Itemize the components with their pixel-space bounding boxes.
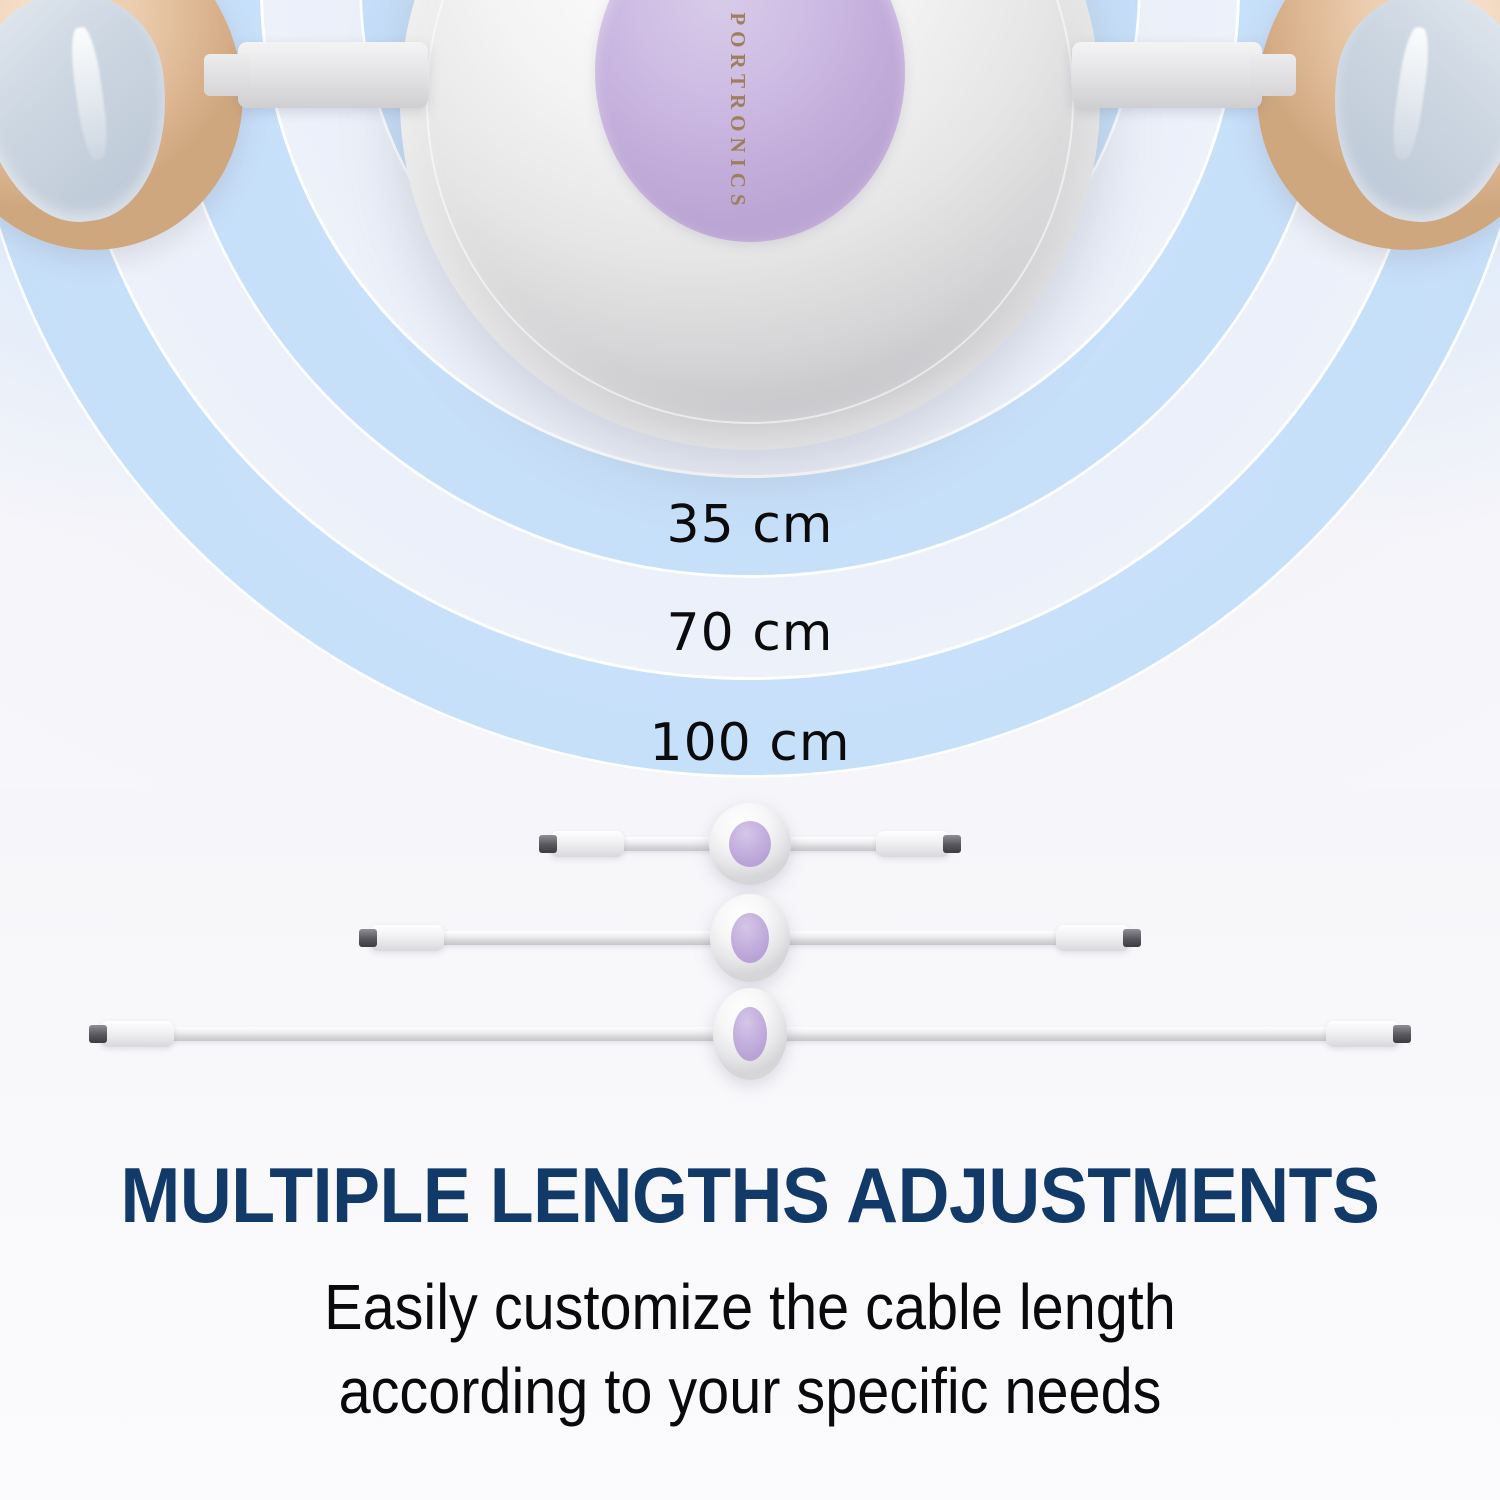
usb-c-connector-right: [876, 831, 950, 857]
brand-name: PORTRONICS: [725, 12, 750, 211]
usb-c-connector-left: [100, 1021, 174, 1047]
cable-specimen-35cm: [550, 796, 950, 892]
connector-metal-contact: [359, 929, 377, 947]
distance-label-70: 70 cm: [0, 603, 1500, 663]
cable-wire-right: [746, 931, 1086, 945]
product-feature-graphic: 35 cm 70 cm 100 cm ⊒ PORTRONICS: [0, 0, 1500, 1500]
cable-specimen-100cm: [100, 986, 1400, 1082]
cable-wire-left: [414, 931, 754, 945]
cable-hub-purple-disc: [731, 913, 769, 963]
distance-label-35: 35 cm: [0, 495, 1500, 555]
connector-metal-contact: [539, 835, 557, 853]
right-hand: [1228, 0, 1500, 260]
subtitle-line-2: according to your specific needs: [75, 1349, 1425, 1433]
headline: MULTIPLE LENGTHS ADJUSTMENTS: [60, 1150, 1440, 1241]
cable-hub-purple-disc: [729, 821, 771, 867]
connector-tip-left: [204, 54, 250, 96]
cable-hub: [709, 803, 791, 885]
cable-specimen-70cm: [370, 890, 1130, 986]
held-connector-left: [238, 42, 428, 108]
connector-metal-contact: [1393, 1025, 1411, 1043]
usb-c-connector-left: [370, 925, 444, 951]
connector-metal-contact: [943, 835, 961, 853]
held-connector-right: [1072, 42, 1262, 108]
distance-label-100: 100 cm: [0, 713, 1500, 773]
connector-metal-contact: [89, 1025, 107, 1043]
cable-hub: [713, 988, 787, 1080]
subtitle-line-1: Easily customize the cable length: [75, 1265, 1425, 1349]
subtitle: Easily customize the cable length accord…: [75, 1265, 1425, 1433]
cable-hub-purple-disc: [733, 1007, 767, 1061]
cable-hub: [710, 894, 790, 982]
connector-tip-right: [1250, 54, 1296, 96]
left-hand: [0, 0, 272, 260]
usb-c-connector-right: [1326, 1021, 1400, 1047]
usb-c-connector-left: [550, 831, 624, 857]
usb-c-connector-right: [1056, 925, 1130, 951]
cable-wire-right: [746, 1027, 1356, 1041]
connector-metal-contact: [1123, 929, 1141, 947]
hub-purple-disc: ⊒ PORTRONICS: [595, 0, 905, 242]
cable-wire-left: [144, 1027, 754, 1041]
